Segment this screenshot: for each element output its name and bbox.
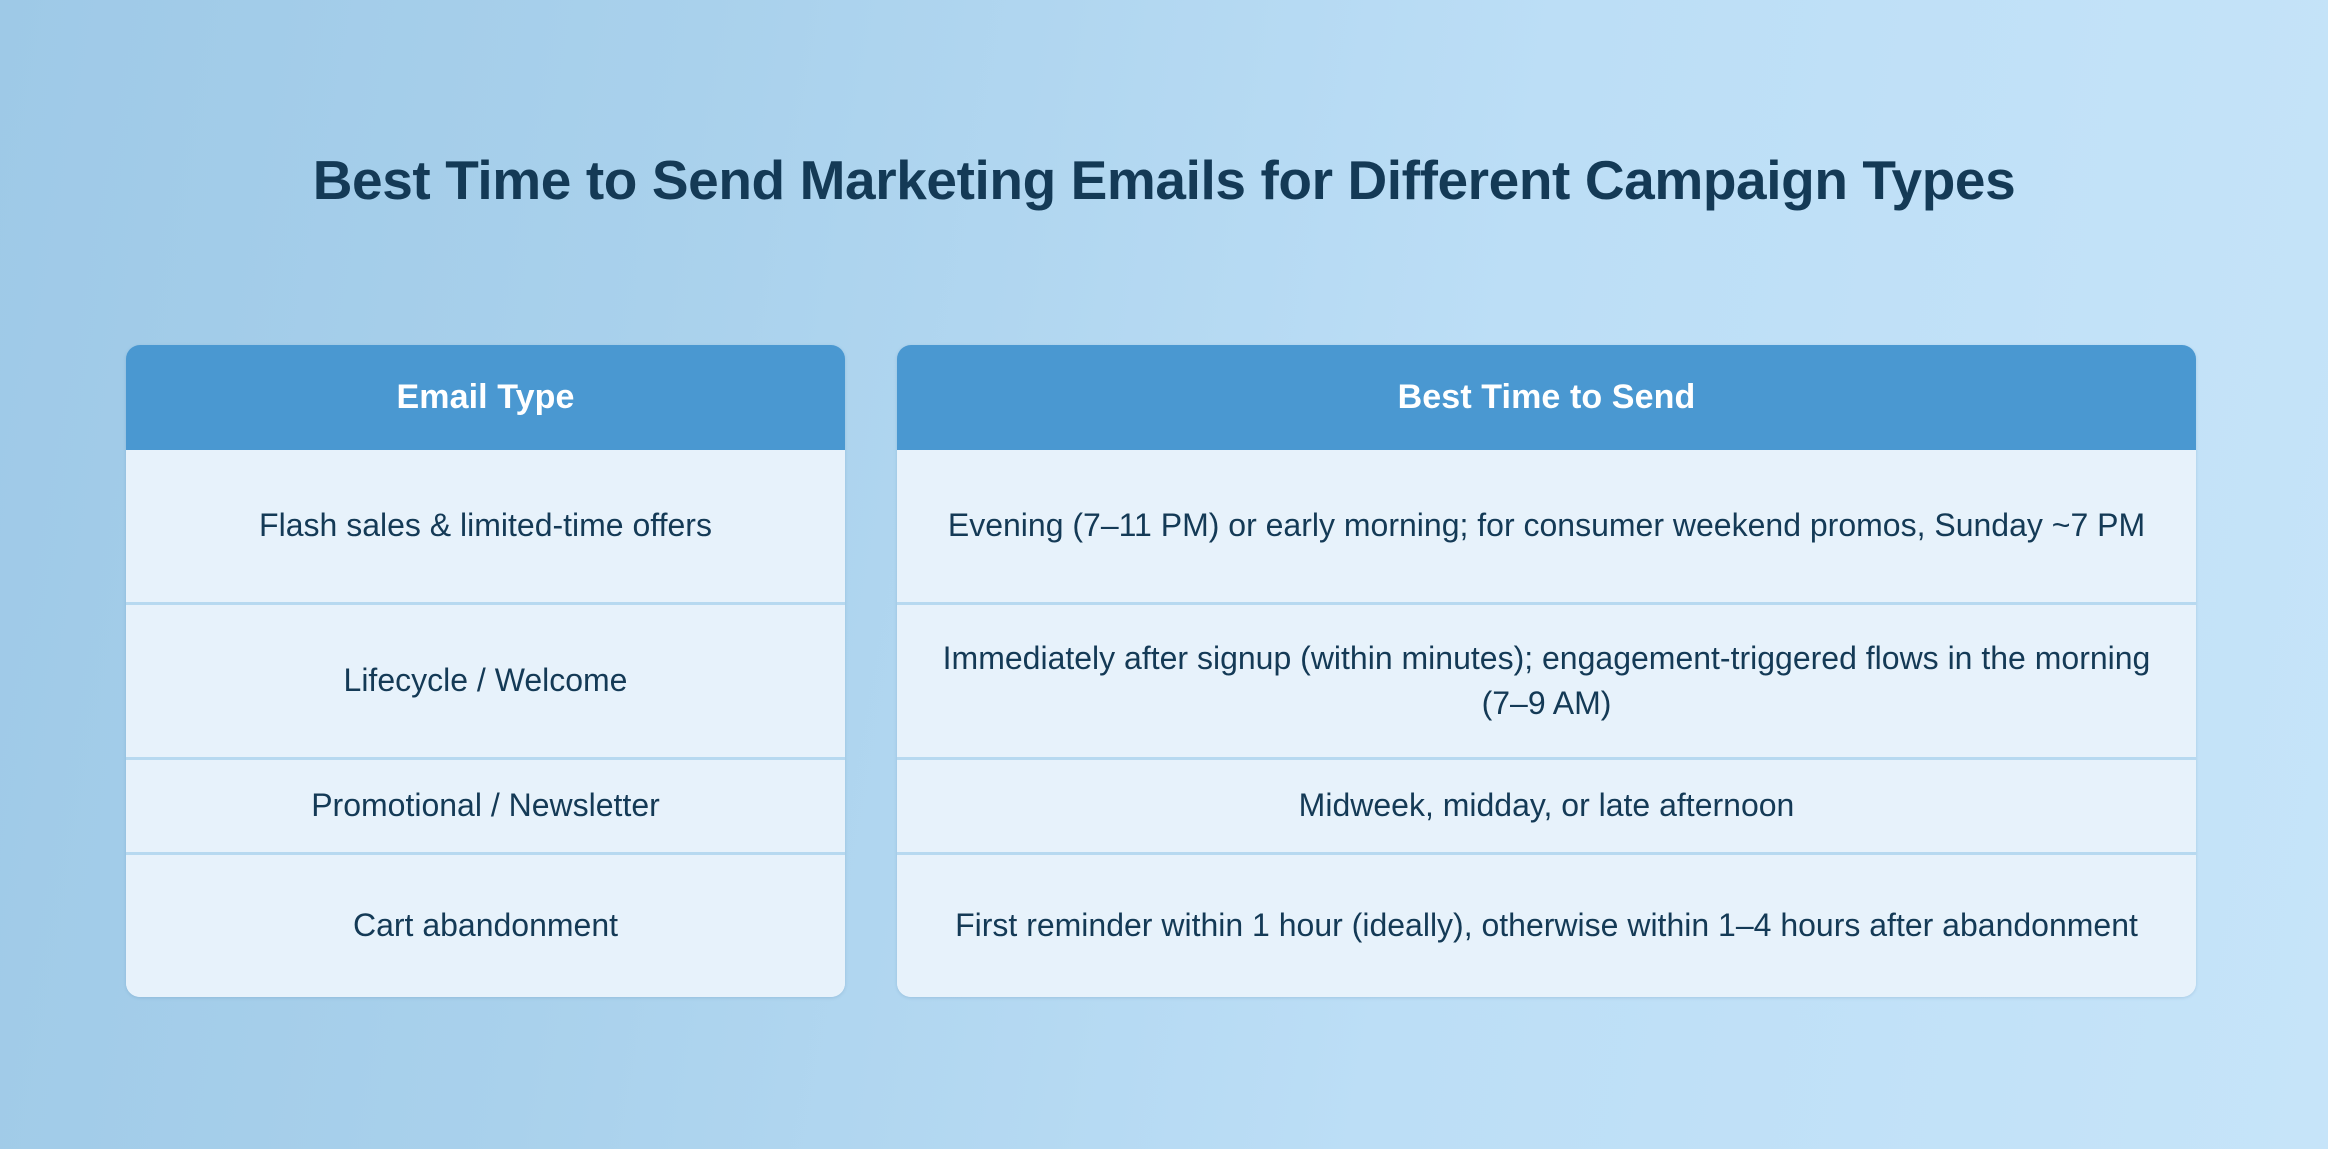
- best-time-table-body: Evening (7–11 PM) or early morning; for …: [897, 450, 2196, 997]
- infographic-canvas: Best Time to Send Marketing Emails for D…: [0, 0, 2328, 1149]
- page-title: Best Time to Send Marketing Emails for D…: [0, 148, 2328, 212]
- table-cell-best-time: Evening (7–11 PM) or early morning; for …: [948, 503, 2145, 548]
- email-type-table-body: Flash sales & limited-time offers Lifecy…: [126, 450, 845, 997]
- table-cell-best-time: Midweek, midday, or late afternoon: [1299, 783, 1795, 828]
- table-row: Immediately after signup (within minutes…: [897, 605, 2196, 760]
- email-type-table: Email Type Flash sales & limited-time of…: [126, 345, 845, 997]
- table-row: Evening (7–11 PM) or early morning; for …: [897, 450, 2196, 605]
- table-row: Promotional / Newsletter: [126, 760, 845, 855]
- table-row: Cart abandonment: [126, 855, 845, 997]
- table-row: First reminder within 1 hour (ideally), …: [897, 855, 2196, 997]
- table-cell-email-type: Flash sales & limited-time offers: [259, 503, 712, 548]
- table-row: Flash sales & limited-time offers: [126, 450, 845, 605]
- table-cell-email-type: Cart abandonment: [353, 903, 618, 948]
- comparison-tables: Email Type Flash sales & limited-time of…: [126, 345, 2196, 997]
- table-row: Midweek, midday, or late afternoon: [897, 760, 2196, 855]
- table-cell-email-type: Lifecycle / Welcome: [344, 658, 628, 703]
- table-cell-best-time: Immediately after signup (within minutes…: [931, 636, 2162, 727]
- table-cell-best-time: First reminder within 1 hour (ideally), …: [955, 903, 2138, 948]
- best-time-table-header: Best Time to Send: [897, 345, 2196, 450]
- table-cell-email-type: Promotional / Newsletter: [311, 783, 660, 828]
- email-type-table-header: Email Type: [126, 345, 845, 450]
- table-row: Lifecycle / Welcome: [126, 605, 845, 760]
- best-time-table: Best Time to Send Evening (7–11 PM) or e…: [897, 345, 2196, 997]
